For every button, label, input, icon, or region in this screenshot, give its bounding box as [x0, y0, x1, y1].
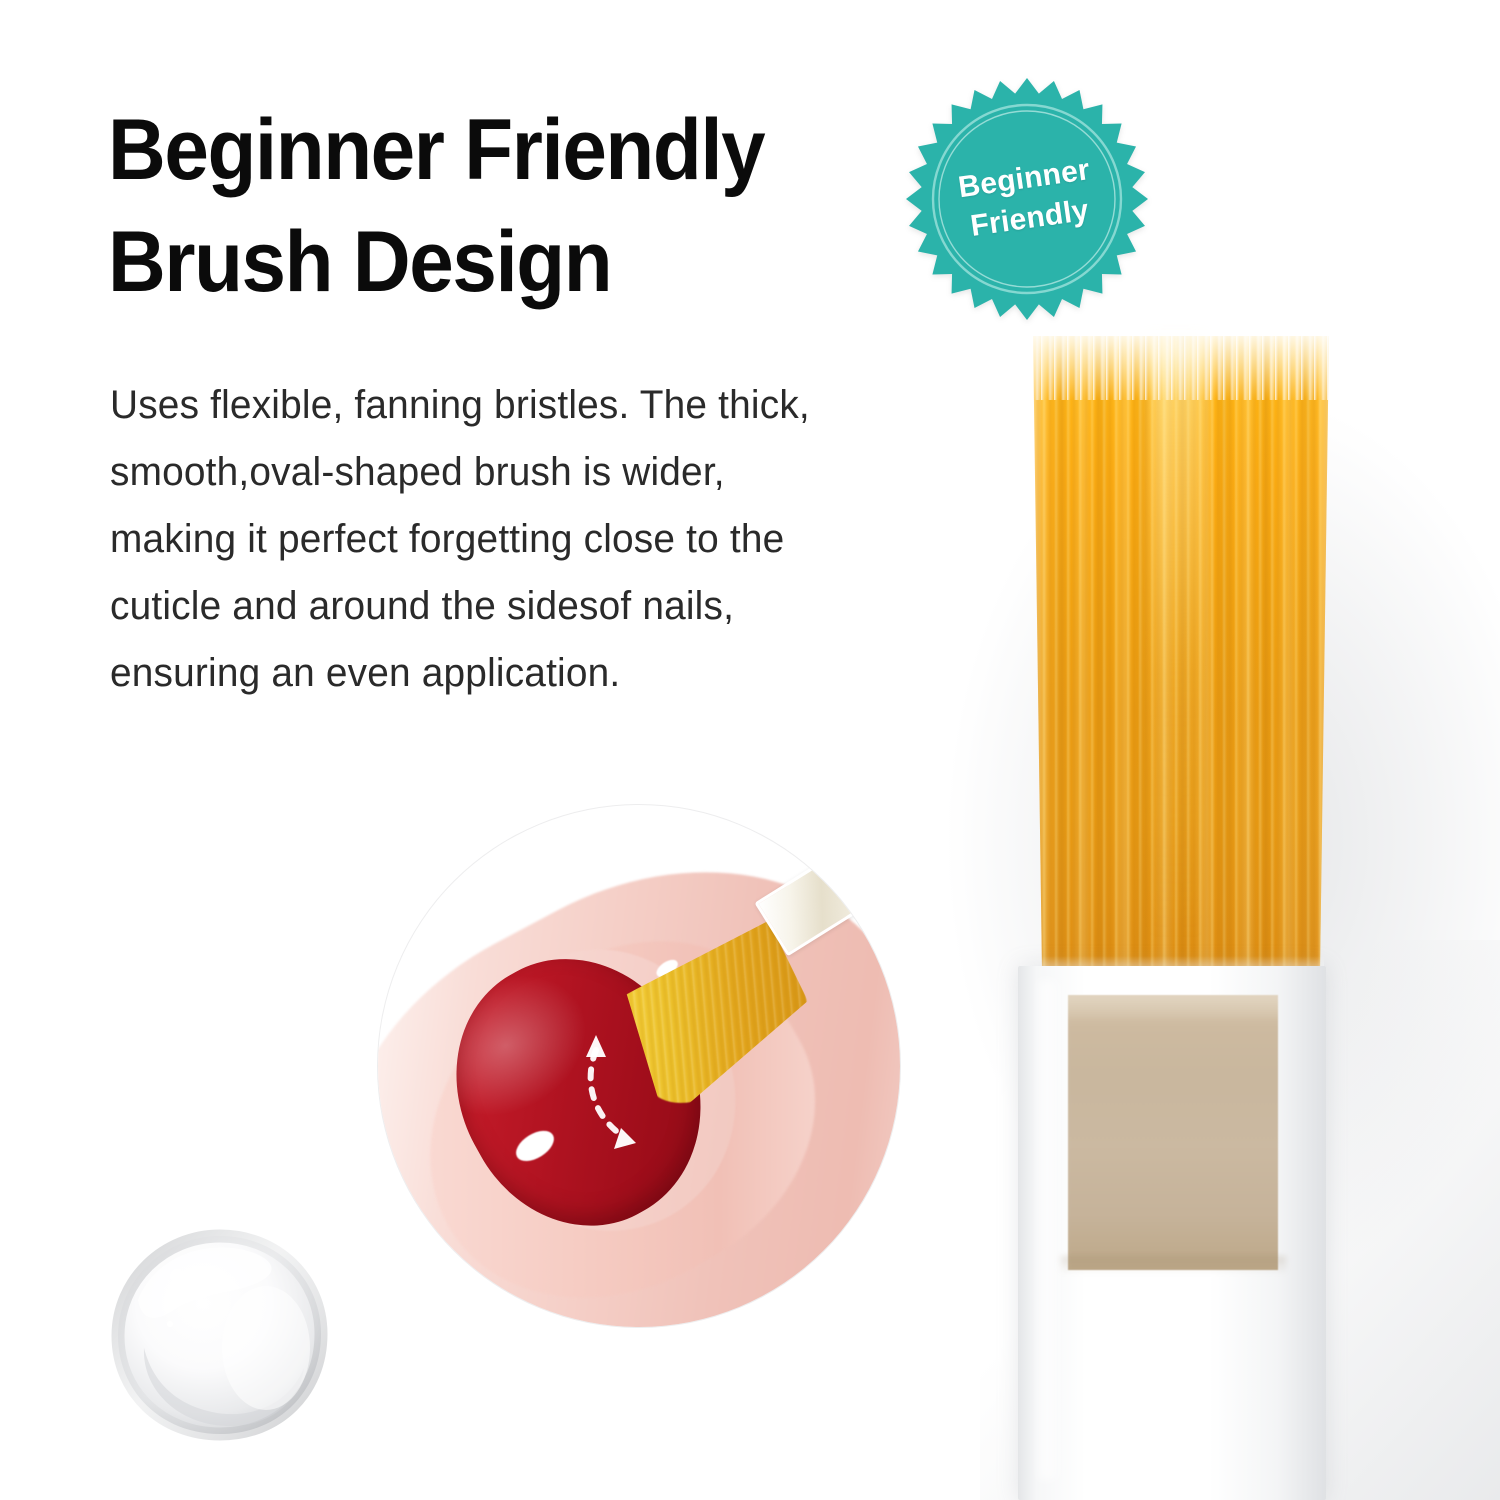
brush-bristles [1030, 336, 1332, 984]
nail-application-inset [378, 805, 900, 1327]
description-text: Uses flexible, fanning bristles. The thi… [110, 372, 915, 707]
water-droplet-icon [108, 1228, 330, 1442]
brush-product-photo [1000, 330, 1380, 1500]
starburst-seal-icon [905, 76, 1149, 322]
page-title-line-1: Beginner Friendly [108, 95, 871, 207]
brush-ferrule-core [1068, 995, 1278, 1270]
description-line: ensuring an even application. [110, 640, 915, 707]
page-title: Beginner Friendly Brush Design [108, 95, 871, 319]
description-line: smooth,oval-shaped brush is wider, [110, 439, 915, 506]
description-line: making it perfect forgetting close to th… [110, 506, 915, 573]
page-title-line-2: Brush Design [108, 207, 871, 319]
product-feature-canvas: Beginner Friendly Brush Design Uses flex… [0, 0, 1500, 1500]
description-line: cuticle and around the sidesof nails, [110, 573, 915, 640]
beginner-friendly-badge: Beginner Friendly [905, 76, 1149, 322]
water-droplet [108, 1228, 330, 1442]
description-line: Uses flexible, fanning bristles. The thi… [110, 372, 915, 439]
